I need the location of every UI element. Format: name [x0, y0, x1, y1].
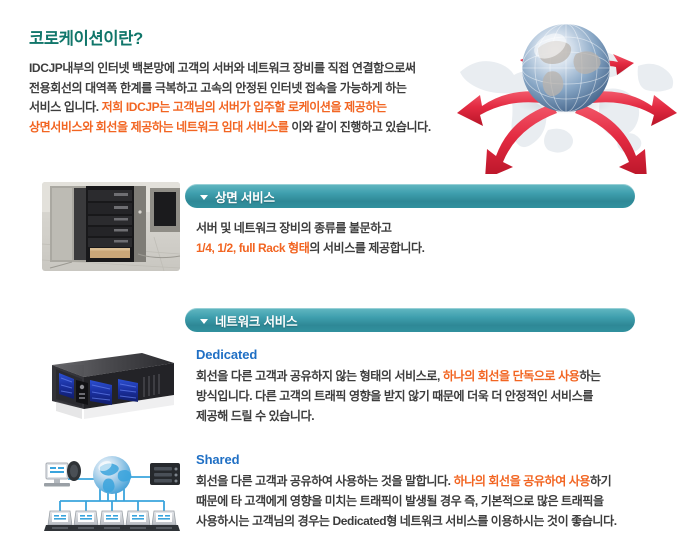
plain-text: 사용하시는 고객님의 경우는 Dedicated형 네트워크 서비스를 이용하시… [196, 514, 617, 528]
intro-paragraph: IDCJP내부의 인터넷 백본망에 고객의 서버와 네트워크 장비를 직접 연결… [29, 59, 459, 137]
text-line: 때문에 타 고객에게 영향을 미치는 트래픽이 발생될 경우 즉, 기본적으로 … [196, 491, 656, 511]
text-line: 방식입니다. 다른 고객의 트래픽 영향을 받지 않기 때문에 더욱 더 안정적… [196, 386, 646, 406]
text-line: 1/4, 1/2, full Rack 형태의 서비스를 제공합니다. [196, 238, 616, 258]
plain-text: IDCJP내부의 인터넷 백본망에 고객의 서버와 네트워크 장비를 직접 연결… [29, 61, 416, 75]
network-topology-diagram [38, 449, 186, 545]
highlight-text: 하나의 회선을 공유하여 사용 [454, 474, 590, 488]
text-line: 상면서비스와 회선을 제공하는 네트워크 임대 서비스를 이와 같이 진행하고 … [29, 118, 459, 138]
text-line: 서버 및 네트워크 장비의 종류를 불문하고 [196, 218, 616, 238]
text-line: 서비스 입니다. 저희 IDCJP는 고객님의 서버가 입주할 로케이션을 제공… [29, 98, 459, 118]
plain-text: 전용회선의 대역폭 한계를 극복하고 고속의 안정된 인터넷 접속을 가능하게 … [29, 81, 407, 95]
plain-text: 방식입니다. 다른 고객의 트래픽 영향을 받지 않기 때문에 더욱 더 안정적… [196, 389, 593, 403]
caret-down-icon [200, 195, 208, 200]
text-line: 제공해 드릴 수 있습니다. [196, 406, 646, 426]
plain-text: 제공해 드릴 수 있습니다. [196, 409, 314, 423]
plain-text: 하는 [579, 369, 600, 383]
laptop-nodes [44, 511, 180, 531]
plain-text: 이와 같이 진행하고 있습니다. [288, 120, 430, 134]
highlight-text: 1/4, 1/2, full Rack 형태 [196, 241, 309, 255]
server-rack-photo [42, 182, 180, 271]
caret-down-icon [200, 319, 208, 324]
text-line: 전용회선의 대역폭 한계를 극복하고 고속의 안정된 인터넷 접속을 가능하게 … [29, 79, 459, 99]
highlight-text: 하나의 회선을 단독으로 사용 [443, 369, 579, 383]
page-title: 코로케이션이란? [29, 25, 143, 49]
rack-server-photo [38, 347, 178, 429]
text-line: IDCJP내부의 인터넷 백본망에 고객의 서버와 네트워크 장비를 직접 연결… [29, 59, 459, 79]
section-bar-label: 상면 서비스 [215, 187, 275, 206]
plain-text: 때문에 타 고객에게 영향을 미치는 트래픽이 발생될 경우 즉, 기본적으로 … [196, 494, 604, 508]
section-bar-colocation[interactable]: 상면 서비스 [185, 184, 635, 208]
globe-with-red-arrows-icon [452, 6, 680, 174]
plain-text: 회선을 다른 고객과 공유하여 사용하는 것을 말합니다. [196, 474, 454, 488]
shared-description: 회선을 다른 고객과 공유하여 사용하는 것을 말합니다. 하나의 회선을 공유… [196, 471, 656, 531]
dedicated-heading: Dedicated [196, 347, 257, 362]
plain-text: 하기 [590, 474, 611, 488]
plain-text: 서버 및 네트워크 장비의 종류를 불문하고 [196, 221, 392, 235]
text-line: 회선을 다른 고객과 공유하여 사용하는 것을 말합니다. 하나의 회선을 공유… [196, 471, 656, 491]
dedicated-description: 회선을 다른 고객과 공유하지 않는 형태의 서비스로, 하나의 회선을 단독으… [196, 366, 646, 426]
plain-text: 서비스 입니다. [29, 100, 102, 114]
section-bar-label: 네트워크 서비스 [215, 311, 297, 330]
colocation-description: 서버 및 네트워크 장비의 종류를 불문하고1/4, 1/2, full Rac… [196, 218, 616, 258]
plain-text: 의 서비스를 제공합니다. [309, 241, 424, 255]
shared-heading: Shared [196, 452, 239, 467]
server-node [150, 463, 180, 485]
highlight-text: 상면서비스와 회선을 제공하는 네트워크 임대 서비스를 [29, 120, 288, 134]
highlight-text: 저희 IDCJP는 고객님의 서버가 입주할 로케이션을 제공하는 [102, 100, 387, 114]
text-line: 사용하시는 고객님의 경우는 Dedicated형 네트워크 서비스를 이용하시… [196, 511, 656, 531]
text-line: 회선을 다른 고객과 공유하지 않는 형태의 서비스로, 하나의 회선을 단독으… [196, 366, 646, 386]
globe-sphere [522, 24, 610, 112]
plain-text: 회선을 다른 고객과 공유하지 않는 형태의 서비스로, [196, 369, 443, 383]
section-bar-network[interactable]: 네트워크 서비스 [185, 308, 635, 332]
